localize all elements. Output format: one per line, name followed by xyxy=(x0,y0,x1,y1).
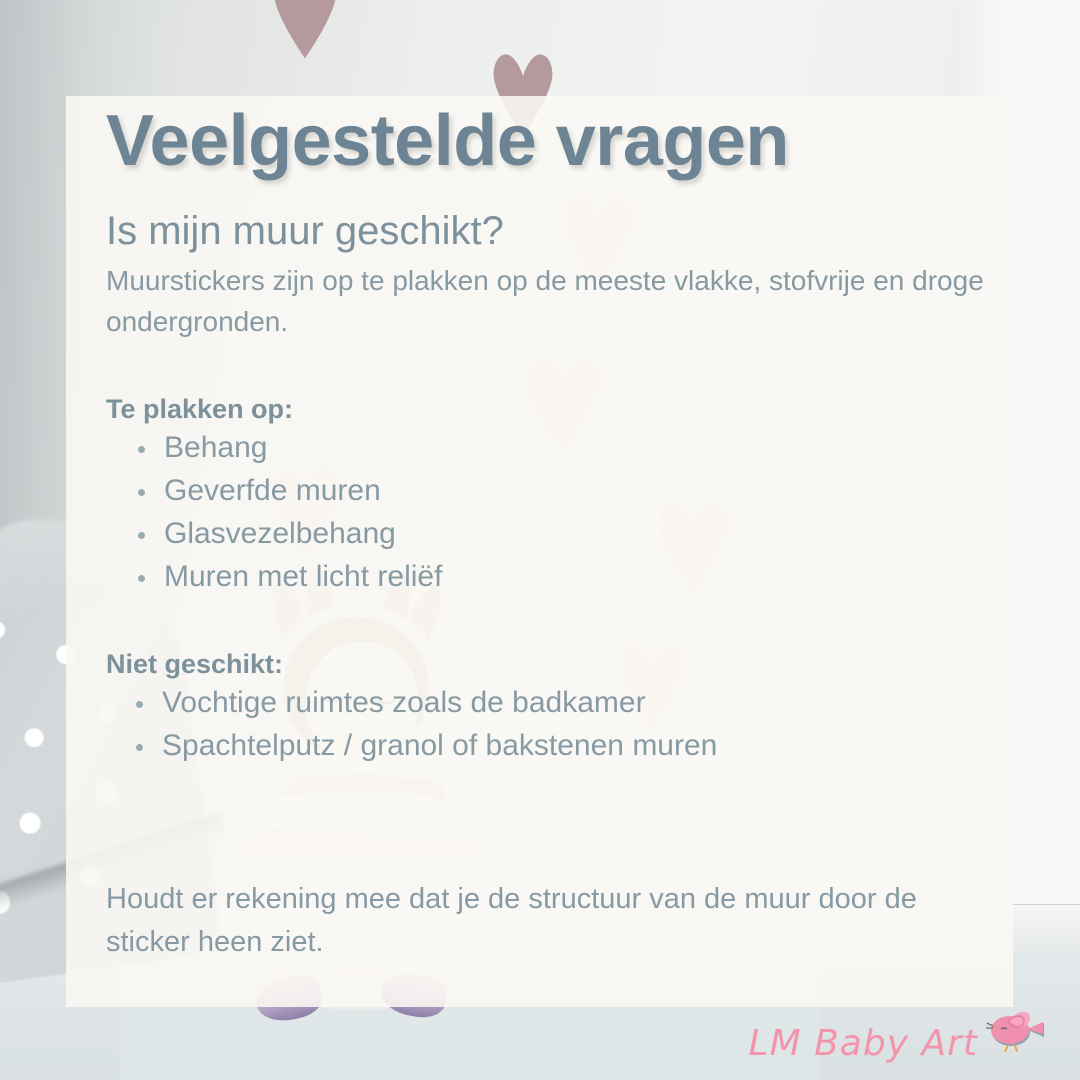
unsuitable-list: Vochtige ruimtes zoals de badkamerSpacht… xyxy=(106,682,986,768)
infographic-canvas: Veelgestelde vragen Is mijn muur geschik… xyxy=(0,0,1080,1080)
closing-note: Houdt er rekening mee dat je de structuu… xyxy=(106,878,956,964)
suitable-heading: Te plakken op: xyxy=(106,394,986,425)
list-item: Glasvezelbehang xyxy=(106,513,986,556)
logo-text: LM Baby Art xyxy=(749,1023,978,1064)
heart-icon xyxy=(268,0,342,62)
unsuitable-heading: Niet geschikt: xyxy=(106,649,986,680)
list-item: Vochtige ruimtes zoals de badkamer xyxy=(106,682,986,725)
list-item: Geverfde muren xyxy=(106,470,986,513)
list-item: Muren met licht reliëf xyxy=(106,556,986,599)
suitable-list: BehangGeverfde murenGlasvezelbehangMuren… xyxy=(106,427,986,599)
page-title: Veelgestelde vragen xyxy=(106,104,986,180)
bird-icon xyxy=(984,1006,1046,1052)
list-item: Spachtelputz / granol of bakstenen muren xyxy=(106,725,986,768)
faq-question: Is mijn muur geschikt? xyxy=(106,208,986,254)
brand-logo: LM Baby Art xyxy=(749,1020,1046,1066)
faq-lead-text: Muurstickers zijn op te plakken op de me… xyxy=(106,260,986,343)
faq-content: Veelgestelde vragen Is mijn muur geschik… xyxy=(106,104,986,768)
list-item: Behang xyxy=(106,427,986,470)
